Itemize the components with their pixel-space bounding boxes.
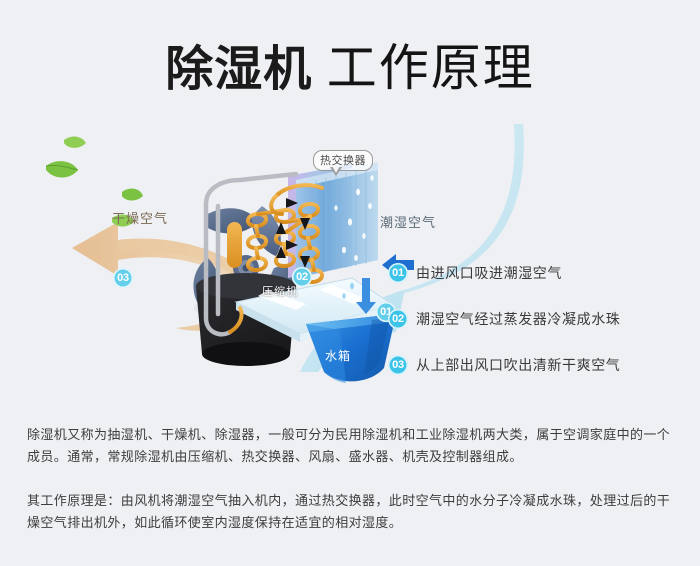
callout-heat-exchanger: 热交换器 <box>313 150 373 171</box>
legend-badge-01: 01 <box>388 263 408 283</box>
diagram-badge-02: 02 <box>292 267 312 287</box>
description-paragraph-2: 其工作原理是：由风机将潮湿空气抽入机内，通过热交换器，此时空气中的水分子冷凝成水… <box>27 490 675 534</box>
legend-text-02: 潮湿空气经过蒸发器冷凝成水珠 <box>416 309 620 329</box>
page-title: 除湿机 工作原理 <box>0 28 700 100</box>
page-title-strong: 除湿机 <box>165 43 312 96</box>
leaf-icons <box>46 136 143 226</box>
accumulator <box>227 222 242 268</box>
description-paragraph-1: 除湿机又称为抽湿机、干燥机、除湿器，一般可分为民用除湿机和工业除湿机两大类，属于… <box>27 424 675 468</box>
legend-badge-03: 03 <box>388 355 408 375</box>
legend-text-01: 由进风口吸进潮湿空气 <box>416 263 562 283</box>
description-block: 除湿机又称为抽湿机、干燥机、除湿器，一般可分为民用除湿机和工业除湿机两大类，属于… <box>27 424 675 534</box>
legend-item: 03 从上部出风口吹出清新干爽空气 <box>388 350 688 380</box>
page-title-light: 工作原理 <box>327 40 535 96</box>
page-root: 除湿机 工作原理 <box>0 0 700 566</box>
water-tank <box>306 314 396 383</box>
legend-text-03: 从上部出风口吹出清新干爽空气 <box>416 355 620 375</box>
diagram-badge-03: 03 <box>113 268 133 288</box>
callout-tail <box>331 167 341 175</box>
legend-badge-02: 02 <box>388 309 408 329</box>
legend-item: 02 潮湿空气经过蒸发器冷凝成水珠 <box>388 304 688 334</box>
legend-list: 01 由进风口吸进潮湿空气 02 潮湿空气经过蒸发器冷凝成水珠 03 从上部出风… <box>388 258 688 396</box>
legend-item: 01 由进风口吸进潮湿空气 <box>388 258 688 288</box>
